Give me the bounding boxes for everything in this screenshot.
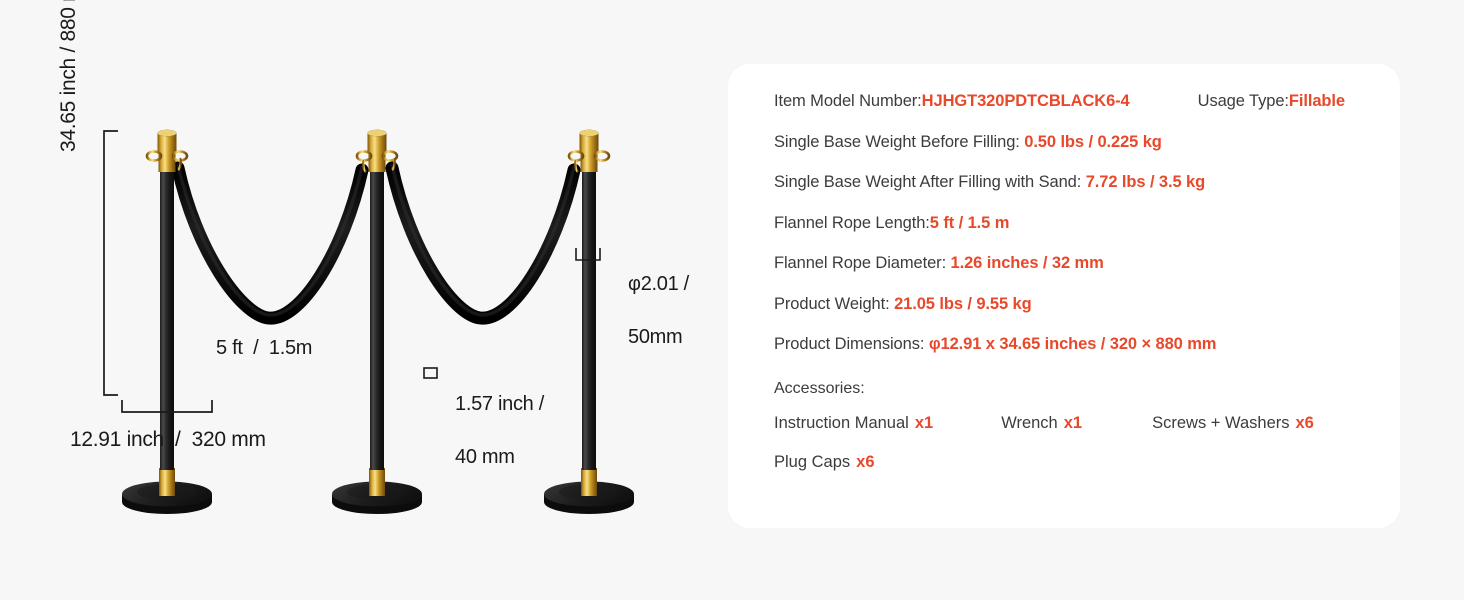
spec-label: Product Dimensions: [774,335,929,353]
accessory-plug-caps: Plug Capsx6 [774,453,875,472]
spec-row-base-weight-before: Single Base Weight Before Filling: 0.50 … [774,133,1400,152]
velvet-rope-left [178,165,362,318]
base-width-dimension-label: 12.91 inch / 320 mm [70,428,266,452]
stanchion-left [122,130,212,514]
spec-row-base-weight-after: Single Base Weight After Filling with Sa… [774,173,1400,192]
spec-label: Single Base Weight Before Filling: [774,133,1024,151]
accessory-wrench: Wrenchx1 [1001,414,1082,433]
specification-panel: Item Model Number:HJHGT320PDTCBLACK6-4 U… [728,64,1400,528]
spec-label: Flannel Rope Length: [774,214,930,232]
post-diameter-line-1: φ2.01 / [628,273,689,295]
spec-value: φ12.91 x 34.65 inches / 320 × 880 mm [929,335,1217,353]
spec-row-rope-diameter: Flannel Rope Diameter: 1.26 inches / 32 … [774,254,1400,273]
height-dimension-bracket [104,131,118,395]
spec-label: Flannel Rope Diameter: [774,254,951,272]
spec-row-product-weight: Product Weight: 21.05 lbs / 9.55 kg [774,295,1400,314]
product-dimension-diagram: 34.65 inch / 880 mm 12.91 inch / 320 mm … [0,0,720,600]
accessory-name: Screws + Washers [1152,414,1289,432]
accessory-screws-washers: Screws + Washersx6 [1152,414,1314,433]
base-thickness-line-1: 1.57 inch / [455,393,544,415]
spec-value: Fillable [1289,92,1345,110]
spec-usage-type: Usage Type:Fillable [1198,92,1345,111]
accessory-qty: x6 [1296,414,1314,432]
spec-label: Product Weight: [774,295,894,313]
spec-value: 0.50 lbs / 0.225 kg [1024,133,1162,151]
accessory-name: Instruction Manual [774,414,909,432]
accessories-title: Accessories: [774,380,1400,398]
base-thickness-line-2: 40 mm [455,446,515,468]
spec-model-number: Item Model Number:HJHGT320PDTCBLACK6-4 [774,92,1130,111]
accessory-name: Wrench [1001,414,1058,432]
accessory-name: Plug Caps [774,453,850,471]
accessory-qty: x1 [915,414,933,432]
spec-value: 1.26 inches / 32 mm [951,254,1104,272]
rope-length-dimension-label: 5 ft / 1.5m [216,337,312,360]
spec-label: Usage Type: [1198,92,1289,110]
spec-row-product-dimensions: Product Dimensions: φ12.91 x 34.65 inche… [774,335,1400,354]
velvet-rope-right [392,165,574,318]
spec-value: HJHGT320PDTCBLACK6-4 [922,92,1130,110]
height-dimension-label: 34.65 inch / 880 mm [57,0,81,152]
spec-row-model-number: Item Model Number:HJHGT320PDTCBLACK6-4 U… [774,92,1400,111]
base-thickness-dimension-label: 1.57 inch / 40 mm [434,364,564,497]
stanchion-middle [332,130,422,514]
spec-value: 21.05 lbs / 9.55 kg [894,295,1032,313]
spec-value: 5 ft / 1.5 m [930,214,1010,232]
spec-row-rope-length: Flannel Rope Length:5 ft / 1.5 m [774,214,1400,233]
spec-label: Single Base Weight After Filling with Sa… [774,173,1086,191]
accessory-instruction-manual: Instruction Manualx1 [774,414,933,433]
accessory-qty: x6 [856,453,874,471]
post-diameter-dimension-label: φ2.01 / 50mm [607,244,717,377]
accessories-row-1: Instruction Manualx1 Wrenchx1 Screws + W… [774,414,1400,433]
accessories-row-2: Plug Capsx6 [774,453,1400,472]
post-diameter-line-2: 50mm [628,326,682,348]
accessories-section: Accessories: Instruction Manualx1 Wrench… [774,380,1400,472]
spec-label: Item Model Number: [774,92,922,110]
accessory-qty: x1 [1064,414,1082,432]
spec-value: 7.72 lbs / 3.5 kg [1086,173,1205,191]
